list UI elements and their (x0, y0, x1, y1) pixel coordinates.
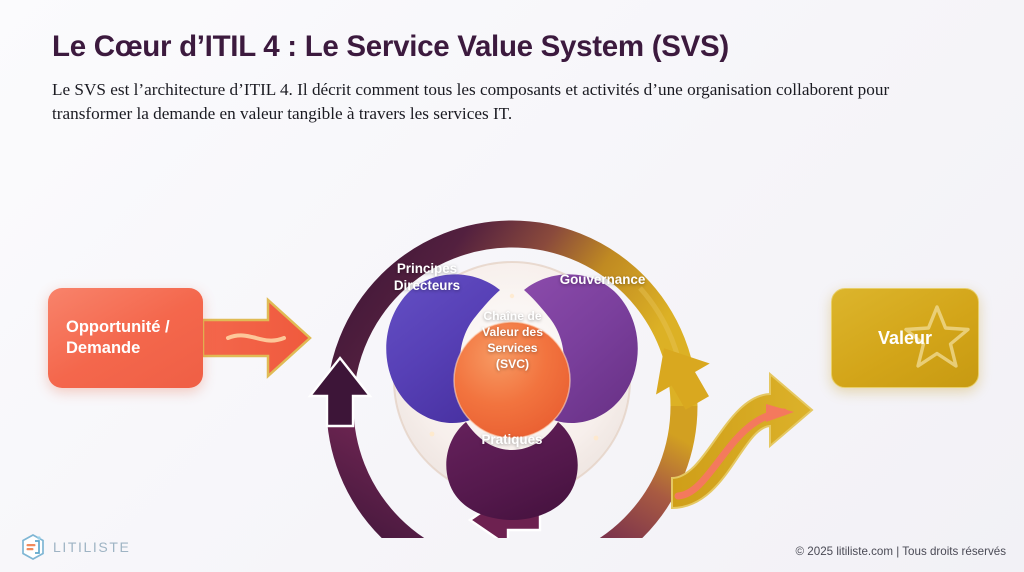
copyright-text: © 2025 litiliste.com | Tous droits réser… (796, 545, 1006, 558)
value-label: Valeur (878, 327, 932, 350)
page-subtitle: Le SVS est l’architecture d’ITIL 4. Il d… (52, 78, 947, 127)
brand-logo[interactable]: LITILISTE (20, 533, 130, 561)
page-title: Le Cœur d’ITIL 4 : Le Service Value Syst… (52, 30, 972, 64)
cycle-arrow-up (310, 358, 370, 426)
logo-text: LITILISTE (53, 539, 130, 555)
component-svc[interactable] (454, 322, 570, 438)
page-header: Le Cœur d’ITIL 4 : Le Service Value Syst… (52, 30, 972, 127)
value-box[interactable]: Valeur (831, 288, 979, 388)
hexagon-logo-icon (20, 533, 46, 561)
opportunity-demand-label: Opportunité / Demande (66, 317, 203, 358)
svs-diagram: Amélioration Continue (0, 148, 1024, 538)
inflow-arrow (203, 300, 310, 376)
opportunity-demand-box[interactable]: Opportunité / Demande (48, 288, 203, 388)
